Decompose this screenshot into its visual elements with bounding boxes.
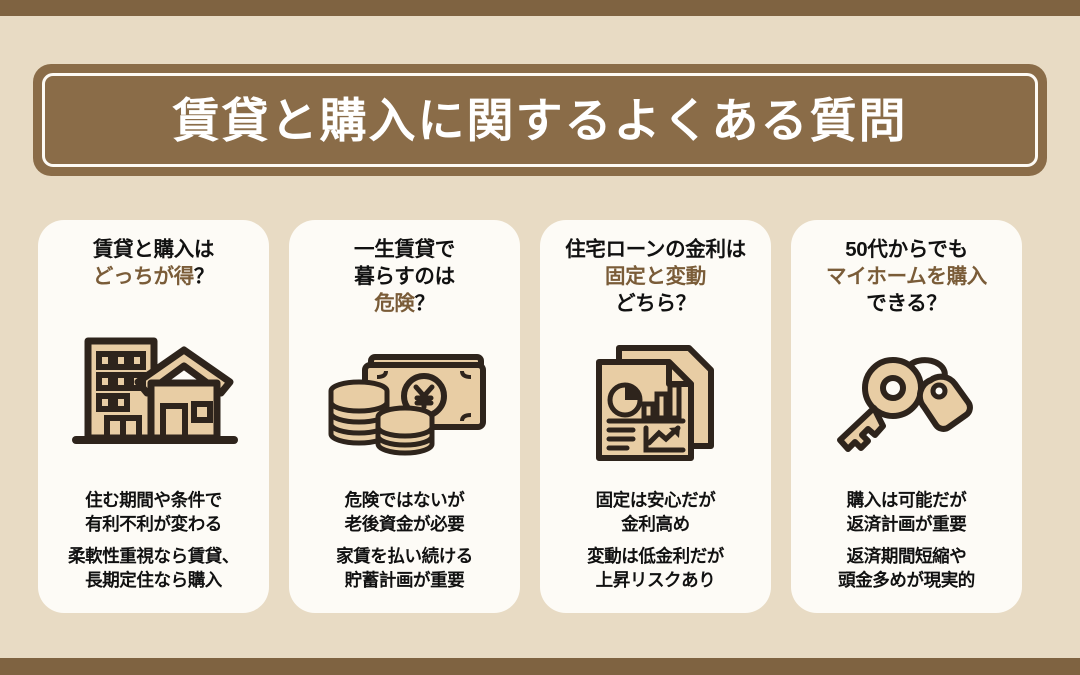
card-title-line: どちら？ <box>565 290 746 317</box>
card-title-line: 賃貸と購入は <box>93 236 214 263</box>
keys-with-tag-icon <box>799 317 1014 489</box>
page-title: 賃貸と購入に関するよくある質問 <box>173 97 908 144</box>
card-body-line: 購入は可能だが <box>838 489 975 513</box>
title-banner: 賃貸と購入に関するよくある質問 <box>33 64 1047 176</box>
card-title-line: できる？ <box>826 290 987 317</box>
card-body-line: 柔軟性重視なら賃貸、 <box>68 545 239 569</box>
faq-card[interactable]: 一生賃貸で 暮らすのは 危険？ <box>289 220 520 613</box>
card-title: 住宅ローンの金利は 固定と変動 どちら？ <box>565 236 746 317</box>
card-body: 購入は可能だが 返済計画が重要 返済期間短縮や 頭金多めが現実的 <box>838 489 975 599</box>
card-body: 固定は安心だが 金利高め 変動は低金利だが 上昇リスクあり <box>587 489 724 599</box>
card-body-line: 家賃を払い続ける <box>336 545 473 569</box>
card-body-line: 住む期間や条件で <box>68 489 239 513</box>
card-body-line: 上昇リスクあり <box>587 569 724 593</box>
card-body-line: 金利高め <box>587 513 724 537</box>
yen-cash-and-coins-icon <box>297 317 512 489</box>
card-body-block: 住む期間や条件で 有利不利が変わる <box>68 489 239 537</box>
card-body-line: 頭金多めが現実的 <box>838 569 975 593</box>
card-body-line: 変動は低金利だが <box>587 545 724 569</box>
card-body-block: 家賃を払い続ける 貯蓄計画が重要 <box>336 545 473 593</box>
card-body-line: 返済計画が重要 <box>838 513 975 537</box>
card-title-line: 住宅ローンの金利は <box>565 236 746 263</box>
card-body-line: 返済期間短縮や <box>838 545 975 569</box>
card-body-line: 固定は安心だが <box>587 489 724 513</box>
card-title: 賃貸と購入は どっちが得？ <box>93 236 214 290</box>
building-and-house-icon <box>46 290 261 489</box>
card-body-line: 長期定住なら購入 <box>68 569 239 593</box>
faq-card[interactable]: 賃貸と購入は どっちが得？ <box>38 220 269 613</box>
card-title-line: どっちが得？ <box>93 263 214 290</box>
card-body-line: 危険ではないが <box>336 489 473 513</box>
card-title-suffix: ？ <box>194 265 214 288</box>
infographic-page: 賃貸と購入に関するよくある質問 賃貸と購入は どっちが得？ <box>0 0 1080 675</box>
faq-card-list: 賃貸と購入は どっちが得？ <box>38 220 1022 613</box>
card-body-block: 返済期間短縮や 頭金多めが現実的 <box>838 545 975 593</box>
card-body-block: 固定は安心だが 金利高め <box>587 489 724 537</box>
card-title: 一生賃貸で 暮らすのは 危険？ <box>354 236 455 317</box>
card-body-line: 老後資金が必要 <box>336 513 473 537</box>
card-body-line: 有利不利が変わる <box>68 513 239 537</box>
card-body: 危険ではないが 老後資金が必要 家賃を払い続ける 貯蓄計画が重要 <box>336 489 473 599</box>
bottom-accent-bar <box>0 658 1080 675</box>
card-body: 住む期間や条件で 有利不利が変わる 柔軟性重視なら賃貸、 長期定住なら購入 <box>68 489 239 599</box>
card-title-line: 50代からでも <box>826 236 987 263</box>
card-body-block: 購入は可能だが 返済計画が重要 <box>838 489 975 537</box>
card-title-suffix: ？ <box>415 292 435 315</box>
card-title-accent: マイホームを購入 <box>826 263 987 290</box>
card-title-accent: どっちが得 <box>93 265 194 288</box>
card-title-line: 危険？ <box>354 290 455 317</box>
card-title-accent: 固定と変動 <box>565 263 746 290</box>
top-accent-bar <box>0 0 1080 16</box>
card-title: 50代からでも マイホームを購入 できる？ <box>826 236 987 317</box>
faq-card[interactable]: 50代からでも マイホームを購入 できる？ <box>791 220 1022 613</box>
card-body-block: 変動は低金利だが 上昇リスクあり <box>587 545 724 593</box>
card-body-block: 柔軟性重視なら賃貸、 長期定住なら購入 <box>68 545 239 593</box>
card-title-accent: 危険 <box>374 292 414 315</box>
card-body-block: 危険ではないが 老後資金が必要 <box>336 489 473 537</box>
card-title-line: 一生賃貸で <box>354 236 455 263</box>
faq-card[interactable]: 住宅ローンの金利は 固定と変動 どちら？ <box>540 220 771 613</box>
report-documents-icon <box>548 317 763 489</box>
card-title-line: 暮らすのは <box>354 263 455 290</box>
card-body-line: 貯蓄計画が重要 <box>336 569 473 593</box>
